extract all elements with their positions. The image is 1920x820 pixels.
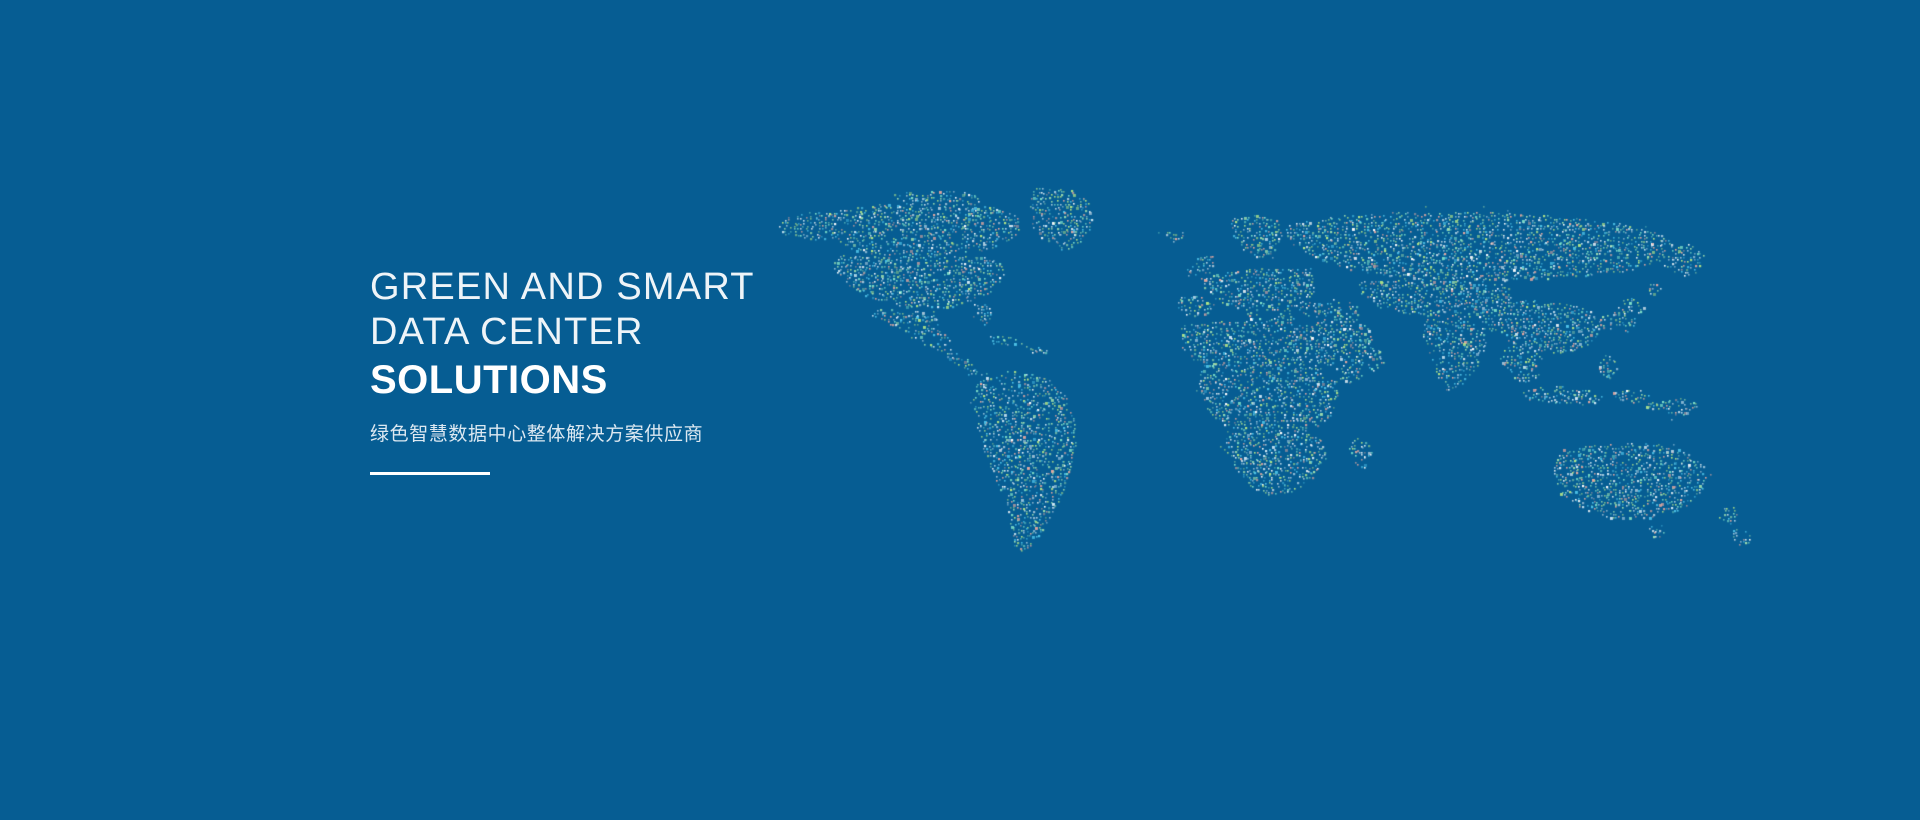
headline-line-3: SOLUTIONS <box>370 355 890 405</box>
world-map-canvas <box>760 185 1760 615</box>
dotted-world-map <box>760 185 1760 615</box>
hero-text-block: GREEN AND SMART DATA CENTER SOLUTIONS 绿色… <box>370 265 890 475</box>
title-divider <box>370 472 490 475</box>
hero-banner: GREEN AND SMART DATA CENTER SOLUTIONS 绿色… <box>0 0 1920 820</box>
headline-line-2: DATA CENTER <box>370 310 890 355</box>
headline-line-1: GREEN AND SMART <box>370 265 890 310</box>
hero-subtitle-chinese: 绿色智慧数据中心整体解决方案供应商 <box>370 419 890 446</box>
